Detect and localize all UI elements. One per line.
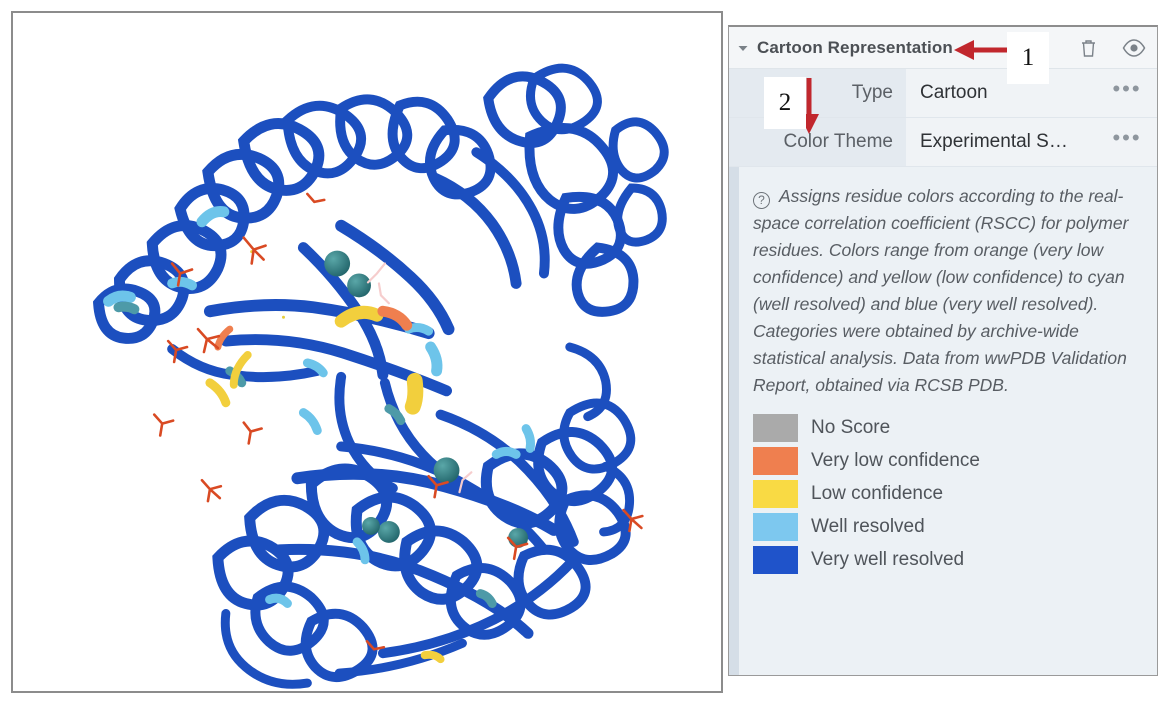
legend-label-no-score: No Score <box>811 417 890 439</box>
legend-label-very-low-confidence: Very low confidence <box>811 450 980 472</box>
legend-swatch-low-confidence <box>753 480 798 508</box>
description-text-block: ?Assigns residue colors according to the… <box>753 183 1143 399</box>
annotation-number-2: 2 <box>779 89 792 117</box>
description-section: ?Assigns residue colors according to the… <box>729 167 1157 675</box>
eye-icon[interactable] <box>1111 39 1157 57</box>
molecular-structure-viewport[interactable] <box>11 11 723 693</box>
trash-icon[interactable] <box>1065 38 1111 58</box>
list-item: Low confidence <box>753 477 1143 510</box>
property-value-color-theme[interactable]: Experimental S… <box>906 118 1097 166</box>
legend-swatch-very-well-resolved <box>753 546 798 574</box>
legend-swatch-no-score <box>753 414 798 442</box>
color-legend: No Score Very low confidence Low confide… <box>753 411 1143 576</box>
annotation-label-1: 1 <box>1007 32 1049 84</box>
property-value-type[interactable]: Cartoon <box>906 69 1097 117</box>
app-root: Cartoon Representation Type Cartoon ••• … <box>0 0 1170 704</box>
legend-label-very-well-resolved: Very well resolved <box>811 549 964 571</box>
description-rail <box>729 167 739 675</box>
more-options-icon-color-theme[interactable]: ••• <box>1097 118 1157 166</box>
description-body: ?Assigns residue colors according to the… <box>739 167 1157 675</box>
legend-swatch-well-resolved <box>753 513 798 541</box>
list-item: Very well resolved <box>753 543 1143 576</box>
panel-header: Cartoon Representation <box>729 27 1157 69</box>
question-mark-icon: ? <box>753 192 770 209</box>
description-text: Assigns residue colors according to the … <box>753 186 1128 395</box>
list-item: Very low confidence <box>753 444 1143 477</box>
legend-label-low-confidence: Low confidence <box>811 483 943 505</box>
annotation-number-1: 1 <box>1022 44 1035 72</box>
protein-cartoon-render <box>13 13 721 691</box>
legend-label-well-resolved: Well resolved <box>811 516 925 538</box>
legend-swatch-very-low-confidence <box>753 447 798 475</box>
list-item: No Score <box>753 411 1143 444</box>
annotation-label-2: 2 <box>764 77 806 129</box>
chevron-down-icon[interactable] <box>729 42 757 54</box>
list-item: Well resolved <box>753 510 1143 543</box>
more-options-icon-type[interactable]: ••• <box>1097 69 1157 117</box>
